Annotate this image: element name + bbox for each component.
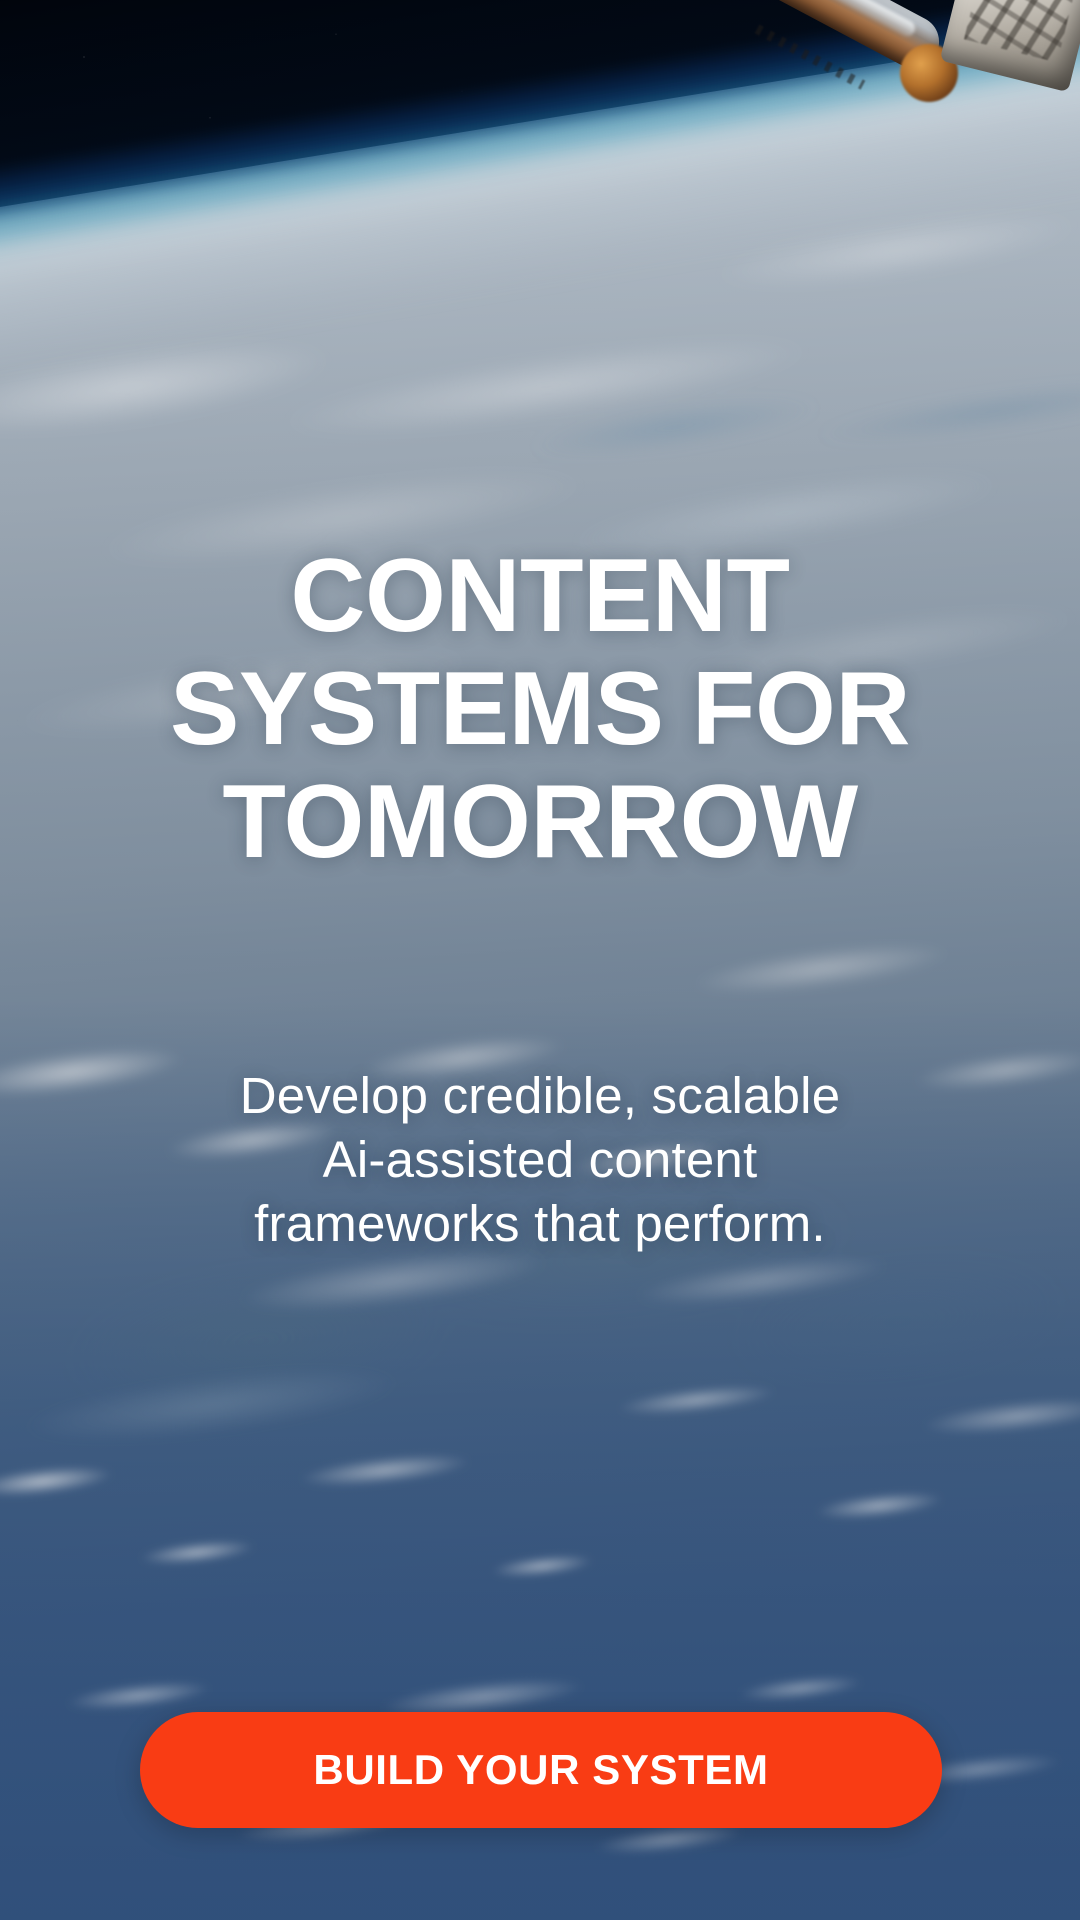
- subheading-line-3: frameworks that perform.: [40, 1192, 1040, 1256]
- headline-line-2: SYSTEMS FOR: [26, 653, 1054, 766]
- hero-section: CONTENT SYSTEMS FOR TOMORROW Develop cre…: [0, 0, 1080, 1920]
- hero-content: CONTENT SYSTEMS FOR TOMORROW Develop cre…: [0, 0, 1080, 1920]
- headline-line-1: CONTENT: [26, 540, 1054, 653]
- subheading-line-2: Ai-assisted content: [40, 1128, 1040, 1192]
- hero-subheading: Develop credible, scalable Ai-assisted c…: [0, 1064, 1080, 1256]
- subheading-line-1: Develop credible, scalable: [40, 1064, 1040, 1128]
- cta-container: BUILD YOUR SYSTEM: [140, 1712, 942, 1828]
- page-title: CONTENT SYSTEMS FOR TOMORROW: [0, 540, 1080, 879]
- headline-line-3: TOMORROW: [26, 766, 1054, 879]
- build-your-system-button[interactable]: BUILD YOUR SYSTEM: [140, 1712, 942, 1828]
